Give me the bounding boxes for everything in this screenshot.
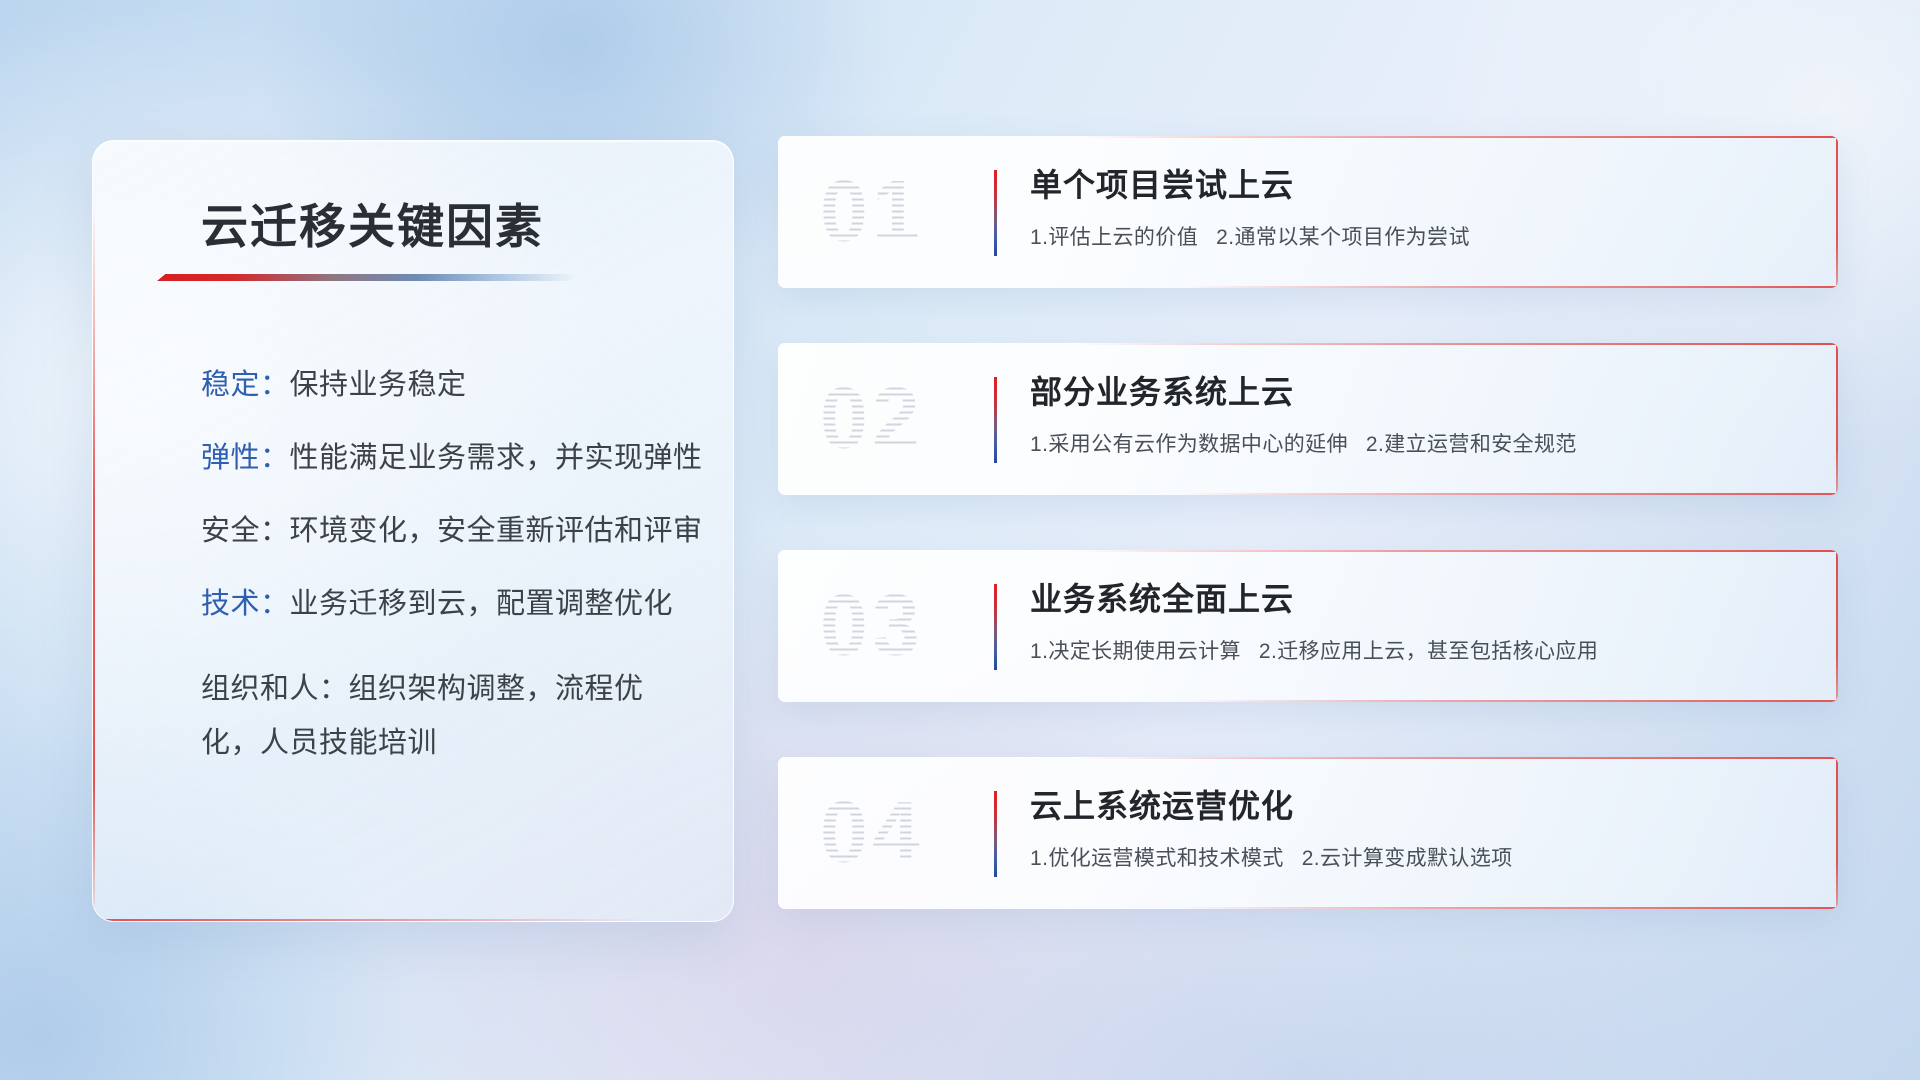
step-body: 单个项目尝试上云 1.评估上云的价值2.通常以某个项目作为尝试 (1030, 166, 1798, 252)
step-divider-bar (994, 584, 997, 670)
step-card-01[interactable]: 01 单个项目尝试上云 1.评估上云的价值2.通常以某个项目作为尝试 (778, 136, 1838, 288)
factor-value: 业务迁移到云，配置调整优化 (290, 588, 674, 620)
step-description-item-1: 1.采用公有云作为数据中心的延伸 (1030, 433, 1348, 456)
step-card-04[interactable]: 04 云上系统运营优化 1.优化运营模式和技术模式2.云计算变成默认选项 (778, 757, 1838, 909)
factor-label: 弹性： (201, 442, 290, 474)
card-edge-left (778, 550, 779, 702)
step-divider-bar (994, 377, 997, 463)
factor-item-elasticity: 弹性：性能满足业务需求，并实现弹性 (201, 444, 693, 473)
factor-label: 安全： (201, 515, 290, 547)
factor-item-stability: 稳定：保持业务稳定 (201, 371, 693, 400)
factor-value: 性能满足业务需求，并实现弹性 (290, 442, 703, 474)
step-number: 04 (820, 784, 924, 883)
step-divider-bar (994, 170, 997, 256)
factor-item-security: 安全：环境变化，安全重新评估和评审 (201, 517, 693, 546)
card-accent-top-line (1075, 136, 1838, 138)
step-body: 业务系统全面上云 1.决定长期使用云计算2.迁移应用上云，甚至包括核心应用 (1030, 580, 1798, 666)
step-title: 部分业务系统上云 (1030, 373, 1798, 411)
step-description-item-2: 2.通常以某个项目作为尝试 (1216, 226, 1470, 249)
card-accent-bottom-line (1181, 286, 1838, 288)
card-accent-right-line (1836, 550, 1838, 702)
step-description-item-2: 2.云计算变成默认选项 (1302, 847, 1513, 870)
step-number: 03 (820, 577, 924, 676)
step-card-03[interactable]: 03 业务系统全面上云 1.决定长期使用云计算2.迁移应用上云，甚至包括核心应用 (778, 550, 1838, 702)
step-description-item-1: 1.评估上云的价值 (1030, 226, 1198, 249)
panel-title: 云迁移关键因素 (201, 188, 544, 257)
step-title: 业务系统全面上云 (1030, 580, 1798, 618)
step-description: 1.优化运营模式和技术模式2.云计算变成默认选项 (1030, 845, 1798, 872)
factor-value: 环境变化，安全重新评估和评审 (290, 515, 703, 547)
step-card-02[interactable]: 02 部分业务系统上云 1.采用公有云作为数据中心的延伸2.建立运营和安全规范 (778, 343, 1838, 495)
card-edge-left (778, 757, 779, 909)
factor-value: 保持业务稳定 (290, 369, 467, 401)
card-accent-bottom-line (1181, 907, 1838, 909)
migration-steps-list: 01 单个项目尝试上云 1.评估上云的价值2.通常以某个项目作为尝试 02 部分… (778, 136, 1838, 964)
title-underline-gradient (157, 274, 577, 281)
step-description-item-2: 2.迁移应用上云，甚至包括核心应用 (1259, 640, 1598, 663)
step-description: 1.评估上云的价值2.通常以某个项目作为尝试 (1030, 224, 1798, 251)
step-title: 单个项目尝试上云 (1030, 166, 1798, 204)
factor-item-organization: 组织和人：组织架构调整，流程优化，人员技能培训 (201, 663, 693, 770)
step-description: 1.决定长期使用云计算2.迁移应用上云，甚至包括核心应用 (1030, 638, 1798, 665)
factor-item-technology: 技术：业务迁移到云，配置调整优化 (201, 590, 693, 619)
card-accent-right-line (1836, 757, 1838, 909)
step-description-item-1: 1.决定长期使用云计算 (1030, 640, 1241, 663)
card-edge-left (778, 136, 779, 288)
step-body: 云上系统运营优化 1.优化运营模式和技术模式2.云计算变成默认选项 (1030, 787, 1798, 873)
card-accent-top-line (1075, 757, 1838, 759)
card-accent-top-line (1075, 550, 1838, 552)
card-accent-bottom-line (1181, 493, 1838, 495)
card-accent-bottom-line (1181, 700, 1838, 702)
step-number: 01 (820, 163, 924, 262)
key-factors-panel: 云迁移关键因素 稳定：保持业务稳定 弹性：性能满足业务需求，并实现弹性 安全：环… (92, 140, 734, 922)
card-edge-left (778, 343, 779, 495)
step-description-item-1: 1.优化运营模式和技术模式 (1030, 847, 1284, 870)
step-number: 02 (820, 370, 924, 469)
card-accent-right-line (1836, 343, 1838, 495)
step-title: 云上系统运营优化 (1030, 787, 1798, 825)
factor-list: 稳定：保持业务稳定 弹性：性能满足业务需求，并实现弹性 安全：环境变化，安全重新… (201, 371, 693, 770)
step-divider-bar (994, 791, 997, 877)
step-description: 1.采用公有云作为数据中心的延伸2.建立运营和安全规范 (1030, 431, 1798, 458)
card-accent-top-line (1075, 343, 1838, 345)
factor-label: 稳定： (201, 369, 290, 401)
factor-label: 技术： (201, 588, 290, 620)
step-description-item-2: 2.建立运营和安全规范 (1366, 433, 1577, 456)
factor-label: 组织和人： (201, 673, 349, 705)
step-body: 部分业务系统上云 1.采用公有云作为数据中心的延伸2.建立运营和安全规范 (1030, 373, 1798, 459)
card-accent-right-line (1836, 136, 1838, 288)
